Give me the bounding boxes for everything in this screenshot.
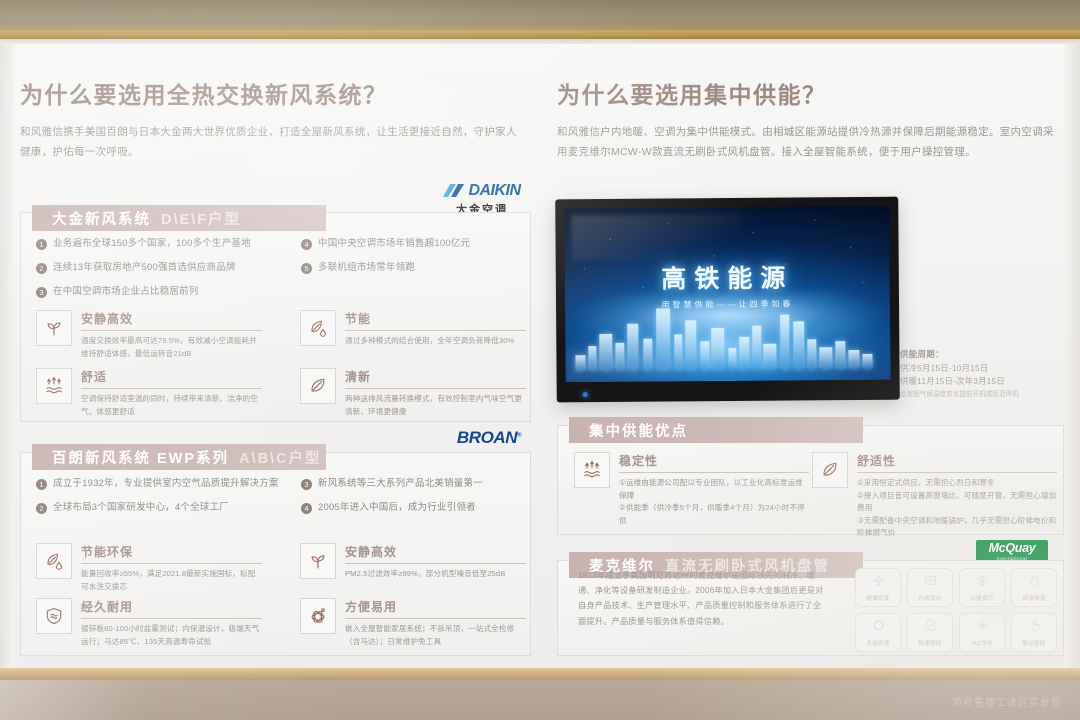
tv-power-led-icon — [583, 392, 588, 397]
feature-desc: ①运维由能源公司配以专业团队，以工业化高标准运维保障 ②供能季（供冷季5个月，供… — [619, 477, 809, 527]
shield-icon — [36, 598, 72, 634]
list-item: 2 连续13年获取房地产500强首选供应商品牌 — [36, 262, 301, 274]
feature-desc: ①采用恒定式供应，无需担心烈日和寒冬 ②接入项目皆可设置高窗墙比，可随意开窗，无… — [857, 477, 1057, 540]
daikin-wordmark: DAIKIN — [468, 182, 520, 200]
feature-card: 舒适 空调保持舒适室温的同时，持续带来清新、洁净的空气。体感更舒适 — [36, 368, 262, 418]
quick-heat-icon — [923, 618, 938, 638]
right-header-title: 为什么要选用集中供能？ — [557, 82, 1062, 110]
daikin-panel-title-main: 大金新风系统 — [52, 208, 151, 229]
bullet-number: 2 — [36, 503, 47, 514]
left-header: 为什么要选用全热交换新风系统？ 和风雅信携手美国百朗与日本大金两大世界优质企业，… — [20, 82, 525, 162]
grid-item-label: 冷暖调节 — [970, 594, 993, 602]
feature-title: 稳定性 — [619, 452, 809, 473]
feature-card: 节能环保 能量回收率≥55%，满足2021.8最新实施国标，标配可水洗交换芯 — [36, 543, 262, 593]
bullet-number: 4 — [301, 503, 312, 514]
mcquay-logo: McQuay International — [976, 540, 1048, 562]
grid-item: IAQ净化 — [959, 613, 1005, 652]
bullet-number: 1 — [36, 479, 47, 490]
photo-caption: 项目售楼工法区实景图 — [952, 694, 1062, 709]
grid-item-label: 恒温恒湿 — [1022, 594, 1045, 602]
feature-desc: 嵌入全屋智能家居系统；不拆吊顶，一站式全检修（含马达）；日常维护免工具 — [345, 623, 526, 648]
bullet-number: 2 — [36, 263, 47, 274]
broan-panel-title: 百朗新风系统 EWP系列 A\B\C户型 — [32, 444, 326, 470]
ceiling-trim — [0, 30, 1080, 39]
feature-card: 安静高效 PM2.5过滤效率≥99%，部分机型噪音低至25dB — [300, 543, 526, 581]
floor-reflection — [0, 680, 200, 720]
list-item: 3 新风系统等三大系列产品北美销量第一 — [301, 478, 521, 490]
daikin-panel-title-sub: D\E\F户型 — [161, 208, 241, 229]
grid-item: 超薄机身 — [855, 568, 901, 607]
bullet-number: 3 — [36, 287, 47, 298]
list-item: 1 成立于1932年，专业提供室内空气品质提升解决方案 — [36, 478, 301, 490]
wall-mounted-tv[interactable]: 高铁能源 用智慧供能——让四季如春 — [555, 197, 900, 403]
supply-cycle-cooling: 供冷5月15日-10月15日 — [900, 362, 1072, 375]
wall-left-edge — [0, 44, 14, 674]
leaf-drop-icon — [36, 543, 72, 579]
bullet-number: 3 — [301, 479, 312, 490]
daikin-bullets: 1 业务遍布全球150多个国家，100多个生产基地 2 连续13年获取房地产50… — [36, 238, 521, 298]
feature-desc: 能量回收率≥55%，满足2021.8最新实施国标，标配可水洗交换芯 — [81, 568, 262, 593]
grid-item-label: 快速增焓 — [918, 639, 941, 647]
bullet-text: 新风系统等三大系列产品北美销量第一 — [318, 478, 483, 489]
list-item: 3 在中国空调市场企业占比稳居前列 — [36, 286, 301, 298]
airflow-icon — [574, 452, 610, 488]
bullet-number: 1 — [36, 239, 47, 250]
bullet-number: 4 — [301, 239, 312, 250]
feature-desc: 空调保持舒适室温的同时，持续带来清新、洁净的空气。体感更舒适 — [81, 393, 262, 418]
supply-cycle-note: 供能周期： 供冷5月15日-10月15日 供暖11月15日-次年3月15日 会根… — [900, 348, 1072, 400]
bullet-text: 中国中央空调市场年销售超100亿元 — [318, 238, 470, 249]
grid-item: 联动智控 — [1011, 613, 1057, 652]
left-header-body: 和风雅信携手美国百朗与日本大金两大世界优质企业，打造全屋新风系统，让生活更接近自… — [20, 123, 525, 163]
supply-cycle-footnote: 会根据气候温度变化提前开机或延迟停机 — [900, 390, 1072, 400]
feature-title: 清新 — [345, 368, 526, 389]
tv-title: 高铁能源 — [565, 258, 890, 297]
list-item: 2 全球布局3个国家研发中心，4个全球工厂 — [36, 502, 301, 514]
bullet-text: 业务遍布全球150多个国家，100多个生产基地 — [53, 238, 251, 249]
bullet-text: 2005年进入中国后，成为行业引领者 — [318, 502, 476, 513]
slim-body-icon — [871, 573, 886, 593]
tv-reflection-lower — [565, 346, 721, 382]
broan-registered-mark: ® — [517, 432, 521, 438]
supply-cycle-heating: 供暖11月15日-次年3月15日 — [900, 375, 1072, 388]
feature-title: 节能环保 — [81, 543, 262, 564]
broan-panel-title-sub: A\B\C户型 — [239, 447, 321, 468]
central-energy-title-main: 集中供能优点 — [589, 420, 688, 441]
inner-structure-icon — [923, 573, 938, 593]
mcquay-wordmark: McQuay — [980, 542, 1044, 555]
feature-desc: 通过多种模式的结合使用，全年空调负荷降低30% — [345, 335, 526, 348]
feature-title: 经久耐用 — [81, 598, 262, 619]
list-item: 4 中国中央空调市场年销售超100亿元 — [301, 238, 521, 250]
touch-control-icon — [1027, 618, 1042, 638]
daikin-mark-icon — [443, 184, 465, 199]
feature-title: 舒适性 — [857, 452, 1057, 473]
snowflake-icon — [975, 573, 990, 593]
mcquay-feature-grid: 超薄机身 内周设计 冷暖调节 恒温恒湿 无级风速 — [855, 568, 1057, 652]
feature-card: 经久耐用 镀锌板80-100小时盐雾测试；内保温设计，极端天气运行；马达85℃、… — [36, 598, 262, 648]
tv-screen: 高铁能源 用智慧供能——让四季如春 — [564, 206, 890, 383]
feature-title: 方便易用 — [345, 598, 526, 619]
leaf-icon — [812, 452, 848, 488]
grid-item: 内周设计 — [907, 568, 953, 607]
feature-title: 节能 — [345, 310, 526, 331]
broan-bullets: 1 成立于1932年，专业提供室内空气品质提升解决方案 2 全球布局3个国家研发… — [36, 478, 521, 514]
list-item: 5 多联机组市场常年领跑 — [301, 262, 521, 274]
molecule-icon — [300, 598, 336, 634]
mcquay-description: 1872年成立于美国明尼苏达州的麦克维尔是国际领先的制冷、暖通、净化等设备研发制… — [578, 568, 828, 629]
list-item: 1 业务遍布全球150多个国家，100多个生产基地 — [36, 238, 301, 250]
sprout-icon — [300, 543, 336, 579]
airflow-icon — [36, 368, 72, 404]
grid-item-label: IAQ净化 — [971, 639, 993, 647]
bullet-text: 全球布局3个国家研发中心，4个全球工厂 — [53, 502, 229, 513]
feature-card: 稳定性 ①运维由能源公司配以专业团队，以工业化高标准运维保障 ②供能季（供冷季5… — [574, 452, 809, 527]
fan-speed-icon — [871, 618, 886, 638]
grid-item: 快速增焓 — [907, 613, 953, 652]
bullet-number: 5 — [301, 263, 312, 274]
humidity-icon — [1027, 573, 1042, 593]
feature-card: 清新 两种送排风流量转换模式，有效控制室内气味空气更清新、环境更健康 — [300, 368, 526, 418]
grid-item: 无级风速 — [855, 613, 901, 652]
grid-item-label: 内周设计 — [918, 594, 941, 602]
daikin-panel-title: 大金新风系统 D\E\F户型 — [32, 205, 326, 231]
broan-logo: BROAN® — [443, 428, 535, 448]
feature-title: 安静高效 — [345, 543, 526, 564]
leaf-icon — [300, 368, 336, 404]
feature-desc: PM2.5过滤效率≥99%，部分机型噪音低至25dB — [345, 568, 526, 581]
grid-item-label: 联动智控 — [1022, 639, 1045, 647]
right-header-body: 和风雅信户内地暖、空调为集中供能模式。由相城区能源站提供冷热源并保障后期能源稳定… — [557, 123, 1062, 163]
floor-trim — [0, 668, 1080, 680]
supply-cycle-heading: 供能周期： — [900, 348, 1072, 360]
grid-item-label: 无级风速 — [866, 639, 889, 647]
grid-item: 恒温恒湿 — [1011, 568, 1057, 607]
feature-card: 安静高效 温度交换效率最高可达79.5%，有效减小空调能耗并维持舒适体感，最低运… — [36, 310, 262, 360]
feature-card: 方便易用 嵌入全屋智能家居系统；不拆吊顶，一站式全检修（含马达）；日常维护免工具 — [300, 598, 526, 648]
broan-wordmark: BROAN® — [457, 428, 521, 448]
feature-title: 舒适 — [81, 368, 262, 389]
iaq-purify-icon — [975, 618, 990, 638]
broan-panel-title-main: 百朗新风系统 EWP系列 — [52, 447, 229, 468]
feature-desc: 两种送排风流量转换模式，有效控制室内气味空气更清新、环境更健康 — [345, 393, 526, 418]
bullet-text: 成立于1932年，专业提供室内空气品质提升解决方案 — [53, 478, 279, 489]
sprout-icon — [36, 310, 72, 346]
showroom-scene: 为什么要选用全热交换新风系统？ 和风雅信携手美国百朗与日本大金两大世界优质企业，… — [0, 0, 1080, 720]
tv-reflection — [571, 214, 740, 261]
list-item: 4 2005年进入中国后，成为行业引领者 — [301, 502, 521, 514]
ceiling — [0, 0, 1080, 34]
feature-card: 舒适性 ①采用恒定式供应，无需担心烈日和寒冬 ②接入项目皆可设置高窗墙比，可随意… — [812, 452, 1057, 540]
grid-item-label: 超薄机身 — [866, 594, 889, 602]
bullet-text: 多联机组市场常年领跑 — [318, 262, 415, 273]
left-header-title: 为什么要选用全热交换新风系统？ — [20, 82, 525, 110]
bullet-text: 连续13年获取房地产500强首选供应商品牌 — [53, 262, 236, 273]
grid-item: 冷暖调节 — [959, 568, 1005, 607]
bullet-text: 在中国空调市场企业占比稳居前列 — [53, 286, 199, 297]
feature-desc: 温度交换效率最高可达79.5%，有效减小空调能耗并维持舒适体感，最低运转音21d… — [81, 335, 262, 360]
feature-title: 安静高效 — [81, 310, 262, 331]
leaf-drop-icon — [300, 310, 336, 346]
feature-desc: 镀锌板80-100小时盐雾测试；内保温设计，极端天气运行；马达85℃、135天高… — [81, 623, 262, 648]
central-energy-panel-title: 集中供能优点 — [569, 417, 863, 443]
feature-card: 节能 通过多种模式的结合使用，全年空调负荷降低30% — [300, 310, 526, 348]
right-header: 为什么要选用集中供能？ 和风雅信户内地暖、空调为集中供能模式。由相城区能源站提供… — [557, 82, 1062, 162]
